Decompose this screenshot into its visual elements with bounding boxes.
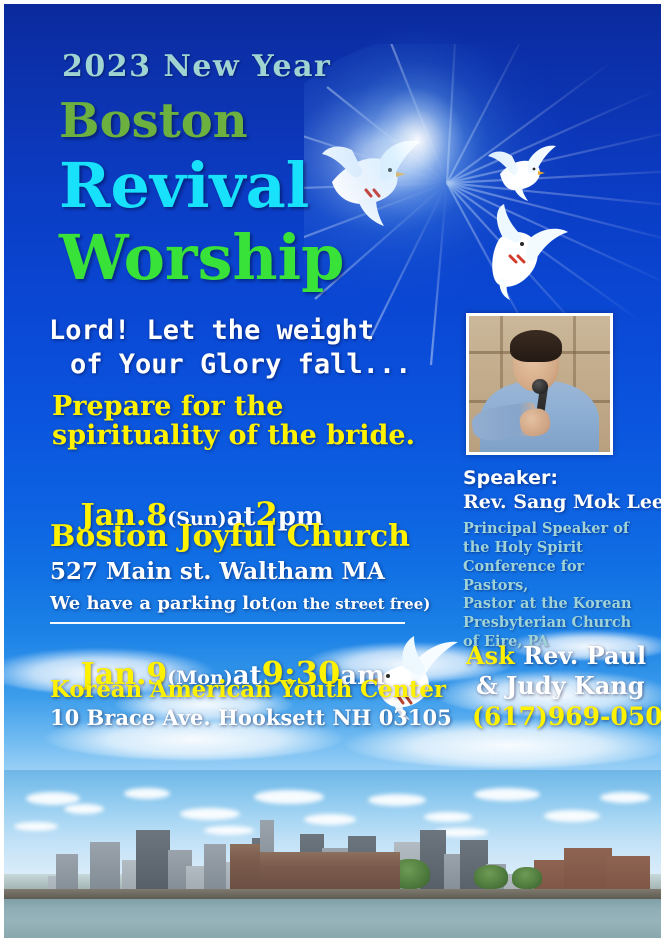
page-title-year: 2023 New Year [62, 52, 331, 82]
contact-ask-rest: Rev. Paul [515, 641, 646, 670]
parking-note-main: We have a parking lot [50, 593, 269, 614]
dove-icon [466, 204, 570, 300]
tagline-line-1: Lord! Let the weight [49, 317, 374, 344]
event-1-parking-note: We have a parking lot(on the street free… [50, 595, 430, 613]
page-title-word2: Worship [59, 227, 344, 289]
boston-skyline-photo [4, 770, 661, 938]
speaker-name: Rev. Sang Mok Lee [463, 493, 661, 512]
revival-worship-poster: 2023 New Year Boston Revival Worship Lor… [0, 0, 665, 942]
tagline-line-4: spirituality of the bride. [52, 422, 415, 449]
tagline-line-3: Prepare for the [52, 393, 283, 420]
page-title-word1: Revival [59, 155, 309, 217]
section-divider [50, 622, 405, 624]
speaker-label: Speaker: [463, 469, 558, 488]
contact-ask-prefix: Ask [466, 641, 515, 670]
speaker-portrait-photo [469, 316, 610, 452]
event-2-address: 10 Brace Ave. Hooksett NH 03105 [50, 707, 452, 728]
event-1-venue: Boston Joyful Church [50, 522, 410, 552]
tagline-line-2: of Your Glory fall... [70, 351, 411, 378]
contact-name-line-2: & Judy Kang [476, 674, 645, 698]
sky-background: 2023 New Year Boston Revival Worship Lor… [4, 4, 661, 790]
contact-ask-line: Ask Rev. Paul [466, 644, 646, 668]
speaker-bio: Principal Speaker of the Holy Spirit Con… [463, 520, 633, 652]
dove-icon [322, 138, 434, 230]
parking-note-detail: (on the street free) [269, 595, 430, 613]
event-1-address: 527 Main st. Waltham MA [50, 560, 385, 583]
dove-icon [486, 144, 556, 202]
contact-phone[interactable]: (617)969-0507 [472, 704, 661, 729]
speaker-photo-frame [466, 313, 613, 455]
page-title-city: Boston [59, 97, 248, 145]
event-2-venue: Korean American Youth Center [50, 678, 446, 701]
